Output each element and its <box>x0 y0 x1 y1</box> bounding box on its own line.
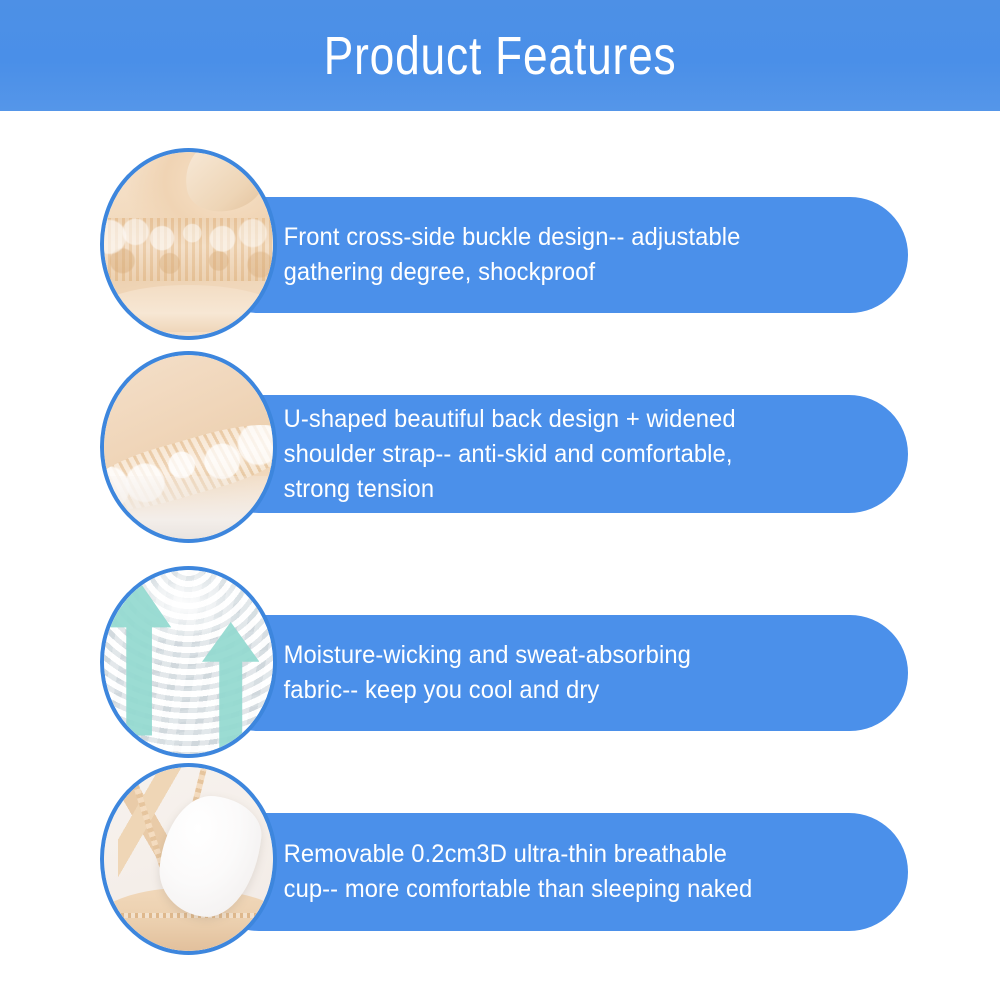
product-features-infographic: Product Features Front cross-side buckle… <box>0 0 1000 1000</box>
feature-row: U-shaped beautiful back design + widened… <box>0 320 1000 529</box>
feature-row: Moisture-wicking and sweat-absorbing fab… <box>0 529 1000 738</box>
removable-cup-photo <box>104 767 273 951</box>
feature-image <box>100 763 277 955</box>
back-panel-photo <box>104 355 273 539</box>
fabric-lace-photo <box>104 152 273 336</box>
feature-row: Removable 0.2cm3D ultra-thin breathable … <box>0 738 1000 947</box>
hem-detail <box>104 285 273 333</box>
feature-image <box>100 148 277 340</box>
feature-image <box>100 351 277 543</box>
feature-text: Front cross-side buckle design-- adjusta… <box>200 220 758 290</box>
header-banner: Product Features <box>0 0 1000 111</box>
feature-text: U-shaped beautiful back design + widened… <box>200 402 753 507</box>
up-arrow-icon <box>107 581 171 736</box>
feature-pill: U-shaped beautiful back design + widened… <box>200 395 908 513</box>
up-arrow-icon <box>202 622 259 754</box>
page-title: Product Features <box>324 29 677 83</box>
strap-detail <box>179 152 270 218</box>
lace-band-detail <box>104 218 273 281</box>
feature-list: Front cross-side buckle design-- adjusta… <box>0 111 1000 947</box>
knit-fabric-photo <box>104 570 273 754</box>
feature-pill: Removable 0.2cm3D ultra-thin breathable … <box>200 813 908 931</box>
feature-pill: Moisture-wicking and sweat-absorbing fab… <box>200 615 908 731</box>
feature-row: Front cross-side buckle design-- adjusta… <box>0 111 1000 320</box>
feature-image <box>100 566 277 758</box>
background-shade <box>104 476 273 539</box>
feature-pill: Front cross-side buckle design-- adjusta… <box>200 197 908 313</box>
feature-text: Removable 0.2cm3D ultra-thin breathable … <box>200 837 769 907</box>
